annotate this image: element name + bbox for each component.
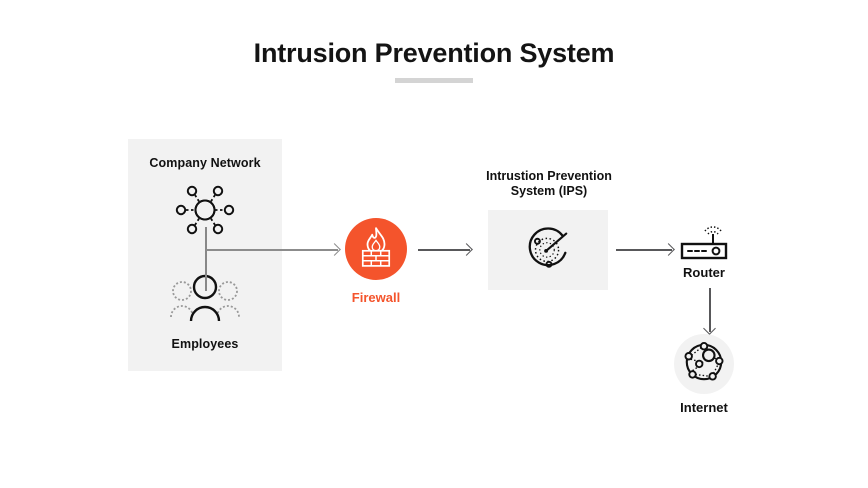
ips-label-line1: Intrustion Prevention — [468, 169, 630, 184]
arrow-network-to-firewall — [206, 243, 338, 257]
internet-node — [674, 334, 734, 394]
company-network-label: Company Network — [128, 156, 282, 170]
page-title: Intrusion Prevention System — [0, 38, 868, 69]
firewall-node — [345, 218, 407, 280]
router-label: Router — [654, 265, 754, 280]
diagram-canvas: Intrusion Prevention System Company Netw… — [0, 0, 868, 488]
arrow-head — [703, 322, 716, 335]
arrow-router-to-internet — [703, 288, 717, 332]
ips-label-line2: System (IPS) — [468, 184, 630, 199]
ips-label: Intrustion Prevention System (IPS) — [468, 169, 630, 199]
arrow-head — [460, 243, 473, 256]
arrow-head — [328, 243, 341, 256]
arrow-firewall-to-ips — [418, 243, 470, 257]
arrow-shaft — [206, 249, 338, 251]
arrow-head — [662, 243, 675, 256]
gauge-speedometer-icon — [523, 223, 573, 278]
arrow-ips-to-router — [616, 243, 672, 257]
firewall-flame-brick-icon — [359, 226, 393, 273]
panel-vertical-connector — [205, 227, 207, 291]
ips-node — [488, 210, 608, 290]
title-divider — [395, 78, 473, 83]
employees-label: Employees — [128, 337, 282, 351]
internet-label: Internet — [654, 400, 754, 415]
globe-network-icon — [682, 340, 726, 389]
router-wifi-icon — [676, 222, 732, 262]
firewall-label: Firewall — [326, 290, 426, 305]
